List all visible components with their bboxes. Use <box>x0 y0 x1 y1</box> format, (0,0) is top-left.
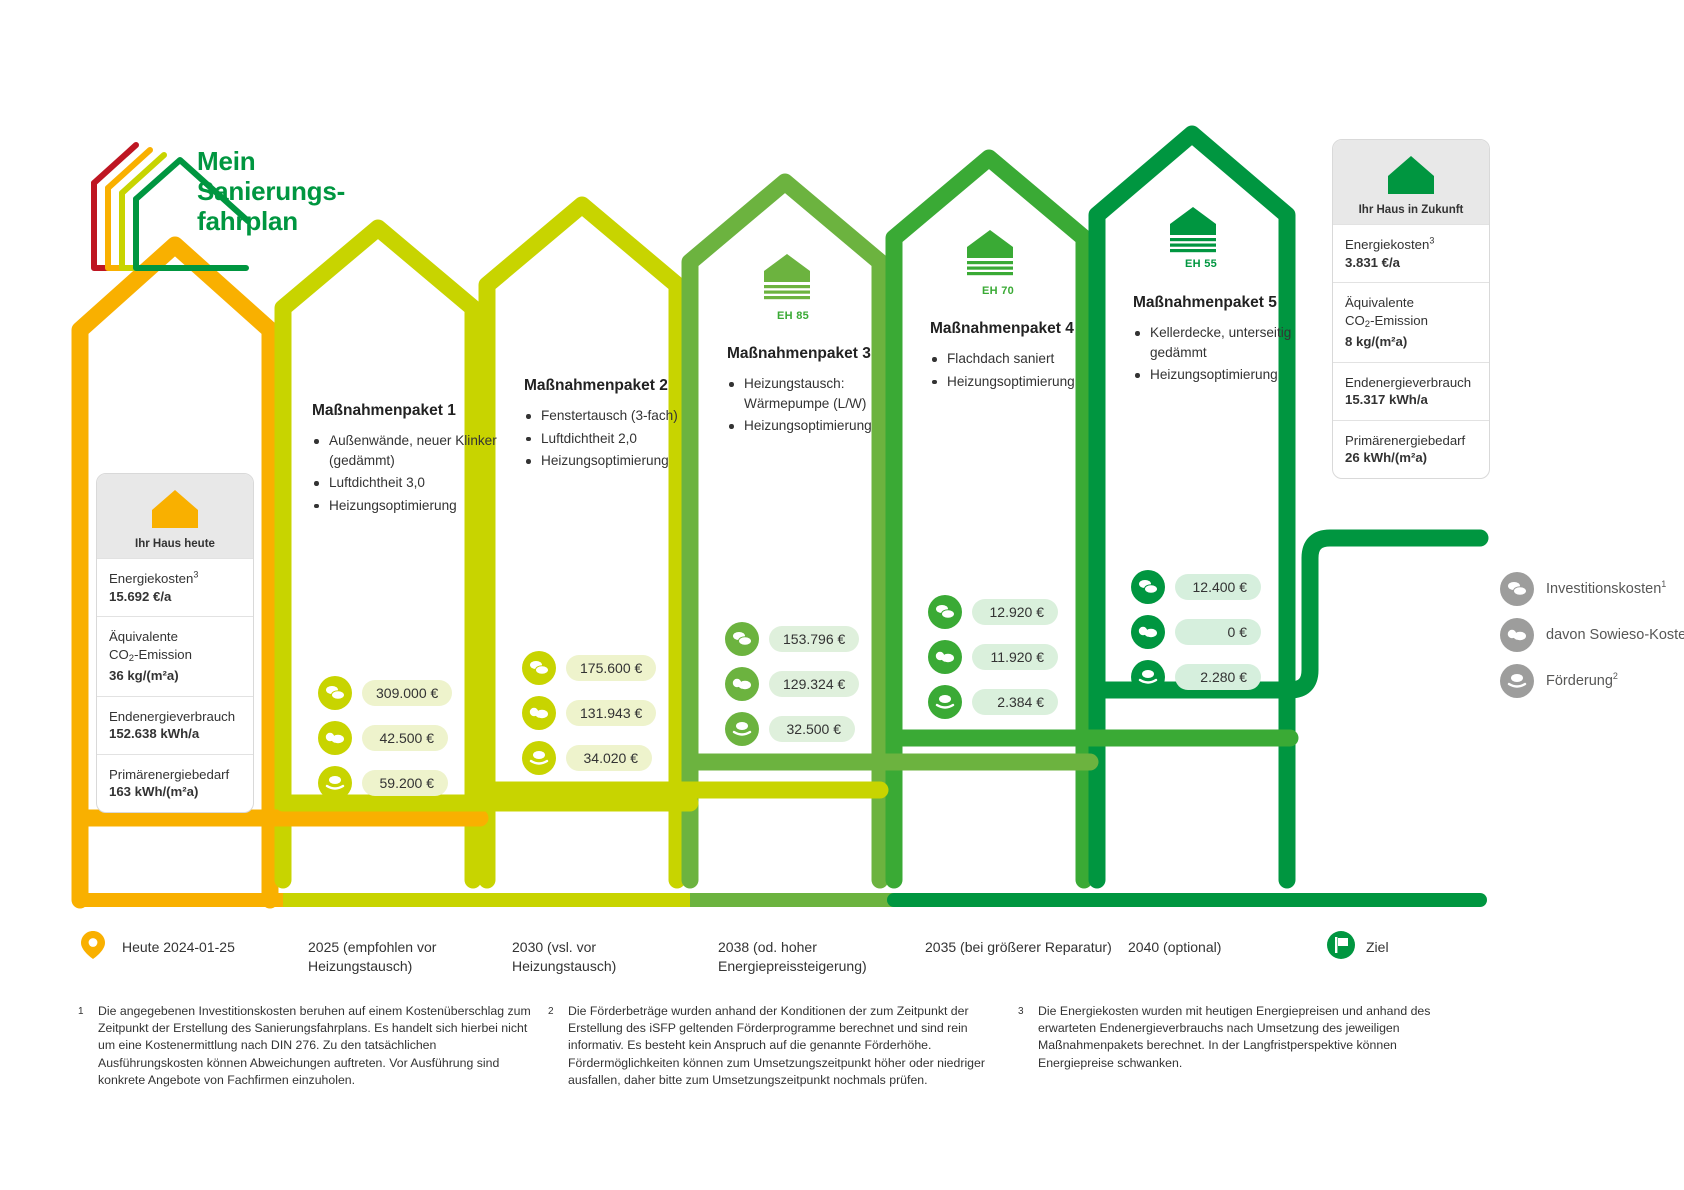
cost-group-2: 175.600 € 131.943 € 34.020 € <box>522 651 742 786</box>
legend-text: davon Sowieso-Kosten <box>1546 627 1684 643</box>
cost-row-investment: 309.000 € <box>318 676 538 710</box>
card-row-primaerenergie: Primärenergiebedarf 26 kWh/(m²a) <box>1333 420 1489 478</box>
package-block-3: Maßnahmenpaket 3 Heizungstausch: Wärmepu… <box>727 345 927 439</box>
cost-legend: Investitionskosten1 davon Sowieso-Kosten… <box>1500 572 1684 710</box>
legend-sup: 2 <box>1613 671 1618 681</box>
legend-row-foerderung: Förderung2 <box>1500 664 1684 698</box>
package-title: Maßnahmenpaket 3 <box>727 345 927 363</box>
footnote-text: Die Energiekosten wurden mit heutigen En… <box>1038 1003 1473 1072</box>
measure-item: Luftdichtheit 3,0 <box>312 473 512 493</box>
legend-row-investment: Investitionskosten1 <box>1500 572 1684 606</box>
coins-icon <box>318 676 352 710</box>
cost-row-investment: 12.400 € <box>1131 570 1351 604</box>
card-row-endenergie: Endenergieverbrauch 15.317 kWh/a <box>1333 362 1489 420</box>
timeline-label-2025: 2025 (empfohlen vor Heizungstausch) <box>308 938 498 976</box>
footnote-marker: 3 <box>1018 1003 1024 1020</box>
timeline-label-2030: 2030 (vsl. vor Heizungstausch) <box>512 938 702 976</box>
cost-value: 129.324 € <box>769 671 859 697</box>
measure-item: Heizungsoptimierung <box>312 496 512 516</box>
package-title: Maßnahmenpaket 5 <box>1133 294 1333 312</box>
measure-item: Flachdach saniert <box>930 349 1130 369</box>
row-label: Energiekosten <box>1345 237 1429 252</box>
cost-value: 309.000 € <box>362 680 452 706</box>
coins-wrench-icon <box>928 640 962 674</box>
row-value: 26 kWh/(m²a) <box>1345 449 1477 467</box>
measure-item: Kellerdecke, unterseitig gedämmt <box>1133 323 1333 362</box>
coins-hand-icon <box>1500 664 1534 698</box>
house-icon-eh55 <box>1166 205 1220 257</box>
measure-item: Heizungstausch: Wärmepumpe (L/W) <box>727 374 927 413</box>
row-sup: 3 <box>193 570 198 580</box>
footnote-2: 2 Die Förderbeträge wurden anhand der Ko… <box>548 1003 1003 1089</box>
measure-item: Heizungsoptimierung <box>524 451 724 471</box>
cost-row-sowieso: 42.500 € <box>318 721 538 755</box>
cost-row-foerderung: 34.020 € <box>522 741 742 775</box>
coins-hand-icon <box>928 685 962 719</box>
card-row-energiekosten: Energiekosten3 3.831 €/a <box>1333 224 1489 282</box>
row-value: 15.692 €/a <box>109 588 241 606</box>
legend-label: Förderung2 <box>1546 673 1618 689</box>
package-measure-list: Heizungstausch: Wärmepumpe (L/W) Heizung… <box>727 374 927 436</box>
coins-icon <box>522 651 556 685</box>
cost-value: 175.600 € <box>566 655 656 681</box>
eh-label-package-4: EH 70 <box>982 285 1014 297</box>
cost-value: 11.920 € <box>972 644 1058 670</box>
row-label: Energiekosten <box>109 571 193 586</box>
row-value: 163 kWh/(m²a) <box>109 783 241 801</box>
row-value: 152.638 kWh/a <box>109 725 241 743</box>
info-card-today: Ihr Haus heute Energiekosten3 15.692 €/a… <box>96 473 254 813</box>
cost-value: 12.400 € <box>1175 574 1261 600</box>
cost-group-3: 153.796 € 129.324 € 32.500 € <box>725 622 945 757</box>
row-value: 36 kg/(m²a) <box>109 667 241 685</box>
cost-row-foerderung: 2.280 € <box>1131 660 1351 694</box>
coins-hand-icon <box>318 766 352 800</box>
cost-row-sowieso: 0 € <box>1131 615 1351 649</box>
cost-row-investment: 175.600 € <box>522 651 742 685</box>
cost-value: 2.384 € <box>972 689 1058 715</box>
row-value: 8 kg/(m²a) <box>1345 333 1477 351</box>
package-block-5: Maßnahmenpaket 5 Kellerdecke, unterseiti… <box>1133 294 1333 388</box>
house-icon-eh70 <box>963 228 1017 280</box>
infographic-canvas: Mein Sanierungs- fahrplan EH 85 EH 70 EH… <box>0 0 1684 1190</box>
package-title: Maßnahmenpaket 4 <box>930 320 1130 338</box>
card-header-today: Ihr Haus heute <box>97 474 253 558</box>
coins-wrench-icon <box>1131 615 1165 649</box>
cost-value: 2.280 € <box>1175 664 1261 690</box>
legend-label: davon Sowieso-Kosten <box>1546 627 1684 643</box>
timeline-label-goal: Ziel <box>1366 938 1556 957</box>
timeline-label-2040: 2040 (optional) <box>1128 938 1318 957</box>
cost-value: 12.920 € <box>972 599 1058 625</box>
footnote-marker: 2 <box>548 1003 554 1020</box>
footnote-1: 1 Die angegebenen Investitionskosten ber… <box>78 1003 533 1089</box>
legend-text: Förderung <box>1546 673 1613 689</box>
logo-text: Mein Sanierungs- fahrplan <box>197 146 345 236</box>
coins-hand-icon <box>725 712 759 746</box>
footnote-text: Die angegebenen Investitionskosten beruh… <box>98 1003 533 1089</box>
logo-line-2: Sanierungs- <box>197 176 345 206</box>
logo-line-1: Mein <box>197 146 255 176</box>
coins-icon <box>928 595 962 629</box>
coins-wrench-icon <box>318 721 352 755</box>
measure-item: Heizungsoptimierung <box>727 416 927 436</box>
cost-row-sowieso: 131.943 € <box>522 696 742 730</box>
measure-item: Heizungsoptimierung <box>1133 365 1333 385</box>
eh-label-package-5: EH 55 <box>1185 258 1217 270</box>
flag-icon <box>1326 930 1356 960</box>
card-header-label: Ihr Haus heute <box>97 538 253 550</box>
logo-line-3: fahrplan <box>197 206 298 236</box>
row-sup: 3 <box>1429 236 1434 246</box>
coins-hand-icon <box>1131 660 1165 694</box>
footnote-text: Die Förderbeträge wurden anhand der Kond… <box>568 1003 1003 1089</box>
package-measure-list: Fenstertausch (3-fach) Luftdichtheit 2,0… <box>524 406 724 471</box>
info-card-future: Ihr Haus in Zukunft Energiekosten3 3.831… <box>1332 139 1490 479</box>
eh-label-package-3: EH 85 <box>777 310 809 322</box>
footnote-3: 3 Die Energiekosten wurden mit heutigen … <box>1018 1003 1473 1072</box>
cost-value: 153.796 € <box>769 626 859 652</box>
package-title: Maßnahmenpaket 2 <box>524 377 724 395</box>
cost-value: 42.500 € <box>362 725 448 751</box>
cost-group-4: 12.920 € 11.920 € 2.384 € <box>928 595 1148 730</box>
package-measure-list: Kellerdecke, unterseitig gedämmt Heizung… <box>1133 323 1333 385</box>
measure-item: Luftdichtheit 2,0 <box>524 429 724 449</box>
card-row-primaerenergie: Primärenergiebedarf 163 kWh/(m²a) <box>97 754 253 812</box>
row-value: 3.831 €/a <box>1345 254 1477 272</box>
cost-value: 59.200 € <box>362 770 448 796</box>
logo: Mein Sanierungs- fahrplan <box>82 128 352 268</box>
house-icon-eh85 <box>760 252 814 304</box>
house-icon <box>148 488 202 530</box>
card-header-future: Ihr Haus in Zukunft <box>1333 140 1489 224</box>
coins-hand-icon <box>522 741 556 775</box>
package-title: Maßnahmenpaket 1 <box>312 402 512 420</box>
coins-icon <box>725 622 759 656</box>
row-label: Endenergieverbrauch <box>1345 375 1471 390</box>
cost-row-foerderung: 59.200 € <box>318 766 538 800</box>
house-icon <box>1384 154 1438 196</box>
location-pin-icon <box>78 930 108 960</box>
package-block-1: Maßnahmenpaket 1 Außenwände, neuer Klink… <box>312 402 512 518</box>
cost-value: 34.020 € <box>566 745 652 771</box>
cost-row-sowieso: 11.920 € <box>928 640 1148 674</box>
row-label: Primärenergiebedarf <box>1345 433 1465 448</box>
package-measure-list: Außenwände, neuer Klinker (gedämmt) Luft… <box>312 431 512 515</box>
cost-group-5: 12.400 € 0 € 2.280 € <box>1131 570 1351 705</box>
cost-row-investment: 153.796 € <box>725 622 945 656</box>
card-header-label: Ihr Haus in Zukunft <box>1333 204 1489 216</box>
measure-item: Heizungsoptimierung <box>930 372 1130 392</box>
timeline-label-today: Heute 2024-01-25 <box>122 938 312 957</box>
cost-value: 32.500 € <box>769 716 855 742</box>
card-row-endenergie: Endenergieverbrauch 152.638 kWh/a <box>97 696 253 754</box>
row-value: 15.317 kWh/a <box>1345 391 1477 409</box>
row-label: Endenergieverbrauch <box>109 709 235 724</box>
coins-wrench-icon <box>725 667 759 701</box>
coins-icon <box>1131 570 1165 604</box>
cost-group-1: 309.000 € 42.500 € 59.200 € <box>318 676 538 811</box>
coins-wrench-icon <box>1500 618 1534 652</box>
coins-wrench-icon <box>522 696 556 730</box>
package-block-4: Maßnahmenpaket 4 Flachdach saniert Heizu… <box>930 320 1130 394</box>
legend-text: Investitionskosten <box>1546 581 1661 597</box>
cost-row-investment: 12.920 € <box>928 595 1148 629</box>
package-block-2: Maßnahmenpaket 2 Fenstertausch (3-fach) … <box>524 377 724 474</box>
legend-sup: 1 <box>1661 579 1666 589</box>
row-label: Primärenergiebedarf <box>109 767 229 782</box>
cost-row-sowieso: 129.324 € <box>725 667 945 701</box>
timeline-label-2038: 2038 (od. hoher Energiepreissteigerung) <box>718 938 908 976</box>
cost-row-foerderung: 2.384 € <box>928 685 1148 719</box>
cost-row-foerderung: 32.500 € <box>725 712 945 746</box>
legend-label: Investitionskosten1 <box>1546 581 1666 597</box>
cost-value: 0 € <box>1175 619 1261 645</box>
measure-item: Fenstertausch (3-fach) <box>524 406 724 426</box>
footnote-marker: 1 <box>78 1003 84 1020</box>
card-row-co2: ÄquivalenteCO2-Emission 36 kg/(m²a) <box>97 616 253 696</box>
cost-value: 131.943 € <box>566 700 656 726</box>
card-row-energiekosten: Energiekosten3 15.692 €/a <box>97 558 253 616</box>
coins-icon <box>1500 572 1534 606</box>
legend-row-sowieso: davon Sowieso-Kosten <box>1500 618 1684 652</box>
timeline-label-2035: 2035 (bei größerer Reparatur) <box>925 938 1115 957</box>
measure-item: Außenwände, neuer Klinker (gedämmt) <box>312 431 512 470</box>
package-measure-list: Flachdach saniert Heizungsoptimierung <box>930 349 1130 391</box>
card-row-co2: ÄquivalenteCO2-Emission 8 kg/(m²a) <box>1333 282 1489 362</box>
